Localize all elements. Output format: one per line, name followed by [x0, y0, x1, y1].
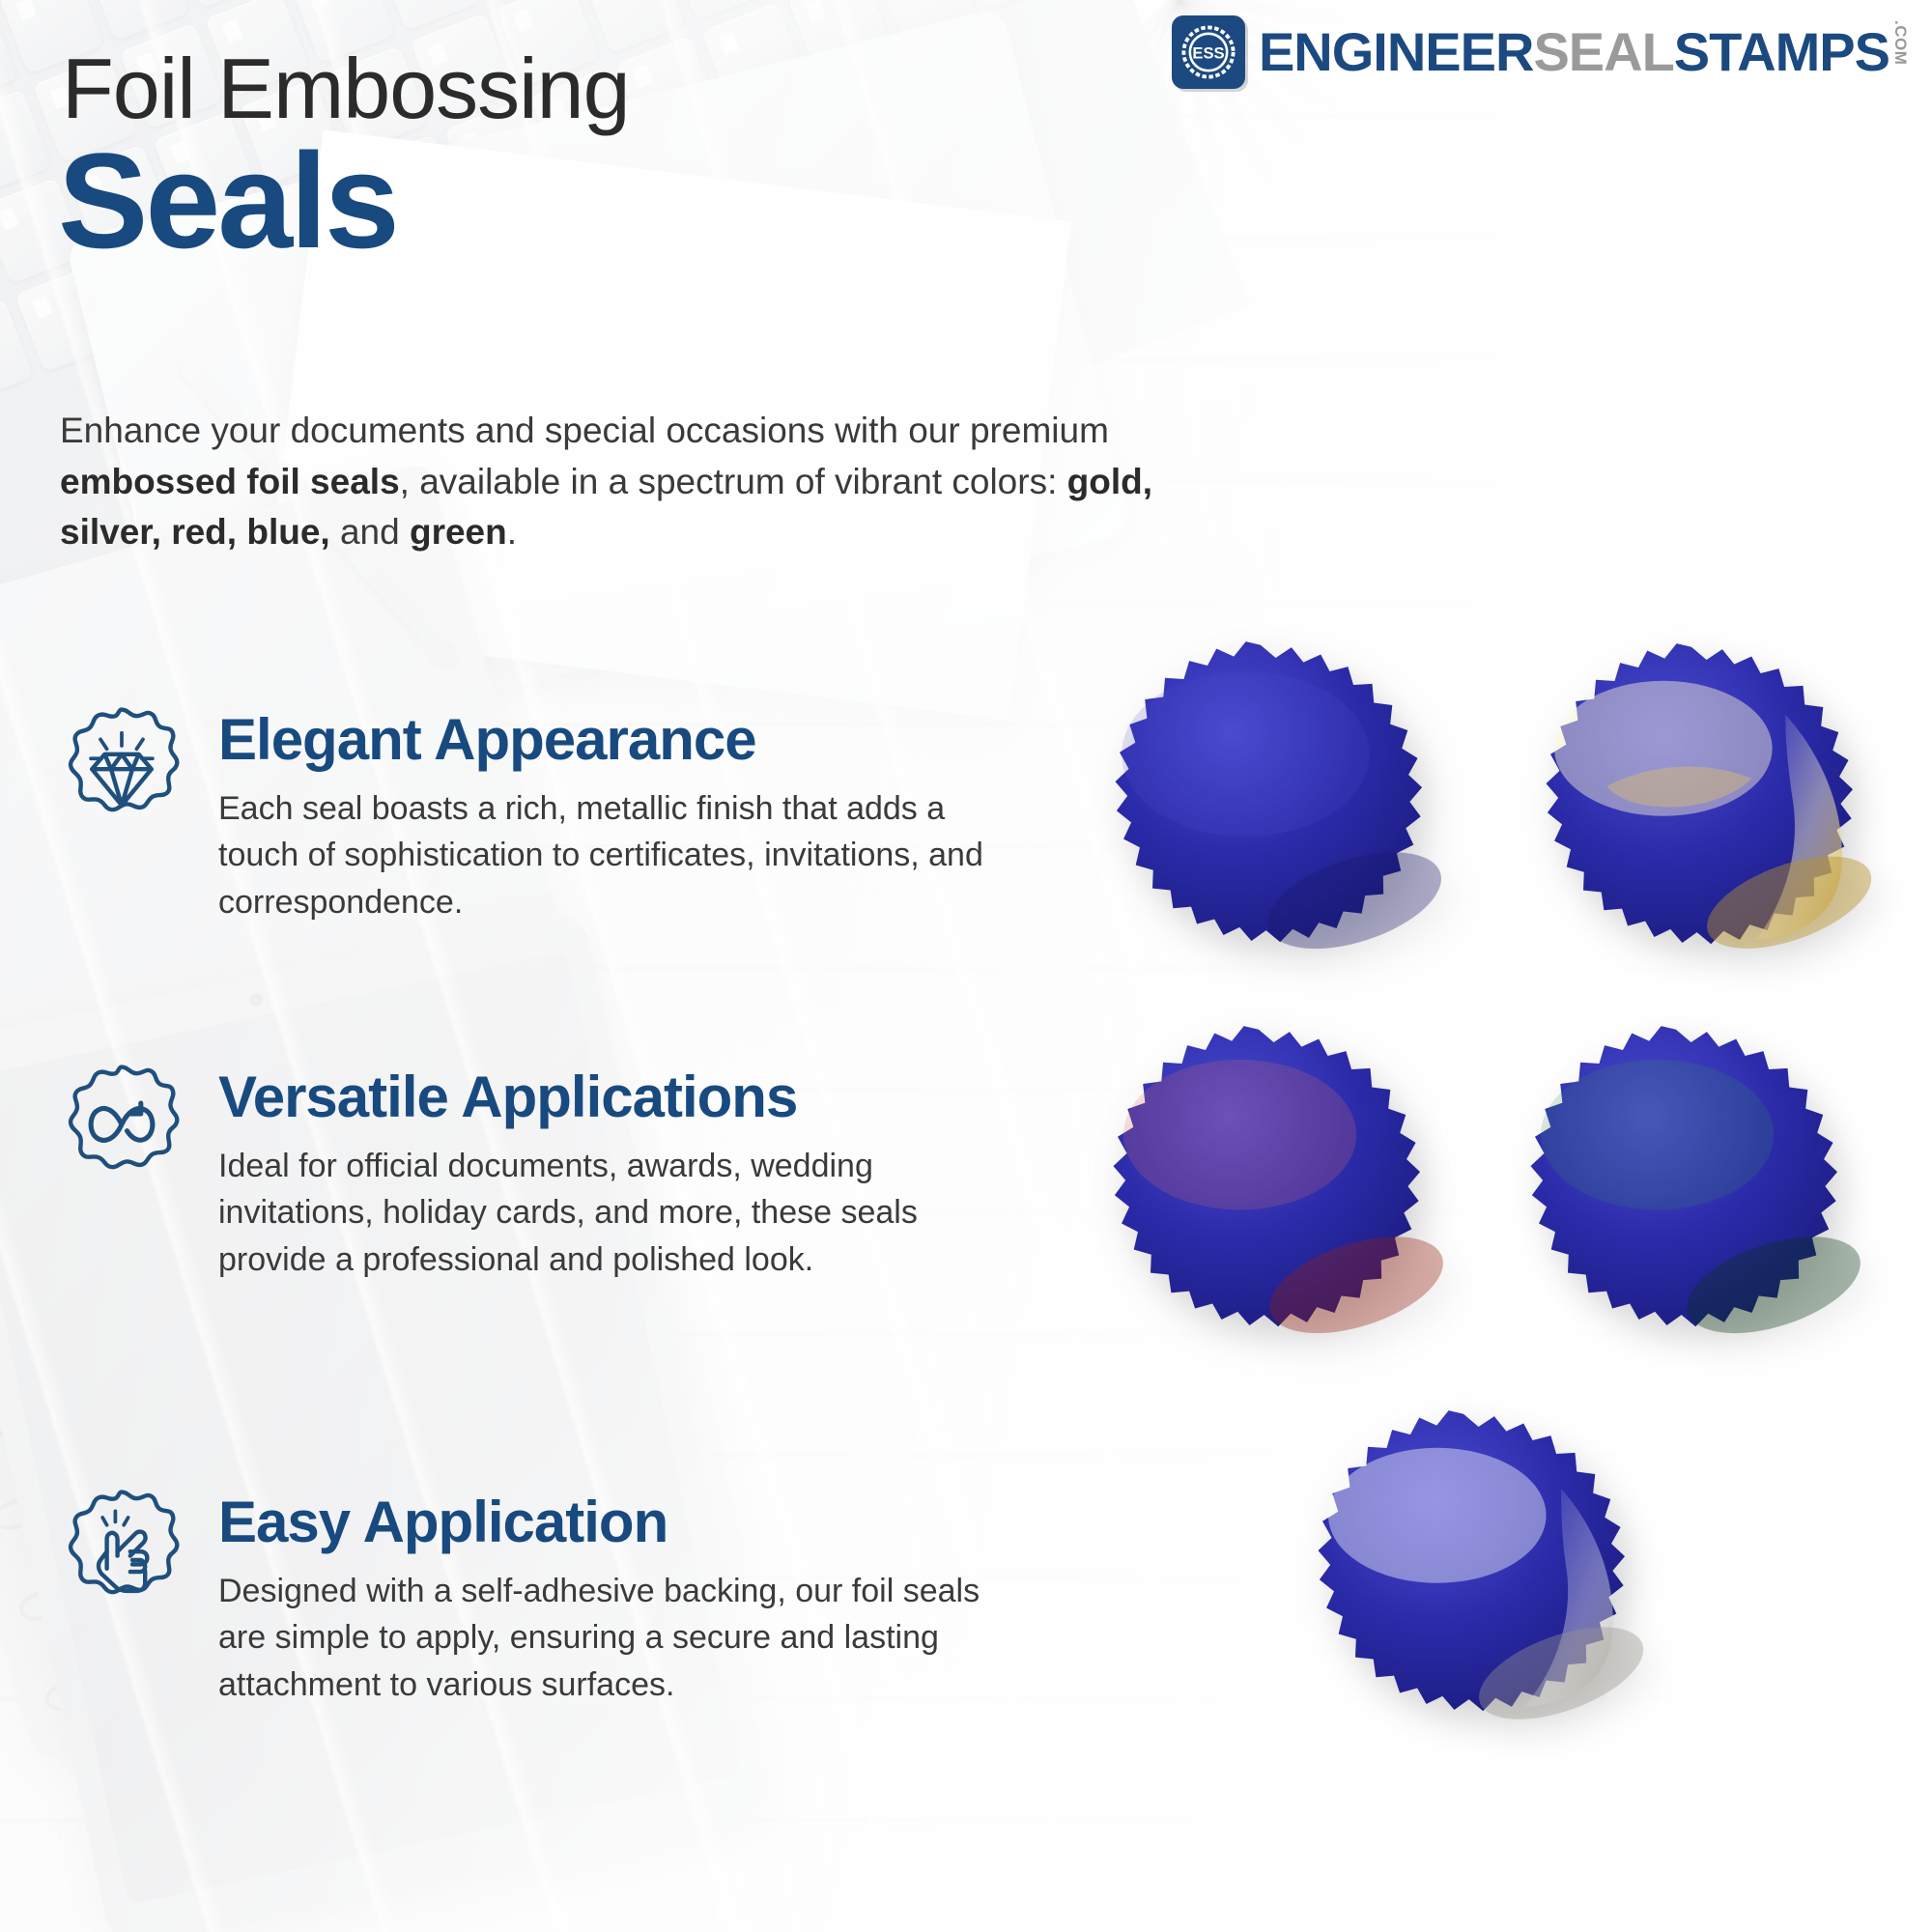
feature-description: Each seal boasts a rich, metallic finish… [218, 785, 1024, 925]
logo-word-engineer: ENGINEER [1259, 25, 1534, 79]
intro-paragraph: Enhance your documents and special occas… [60, 406, 1200, 558]
brand-logo[interactable]: ESS ENGINEER SEAL STAMPS .COM [1172, 15, 1909, 89]
feature-body: Versatile Applications Ideal for officia… [218, 1061, 1024, 1283]
tap-hand-badge-icon [58, 1486, 185, 1613]
feature-versatile-applications: Versatile Applications Ideal for officia… [58, 1061, 1024, 1283]
gold-foil-seal [1503, 639, 1880, 978]
ess-gear-icon: ESS [1172, 15, 1245, 89]
intro-bold-1: embossed foil seals [60, 462, 400, 501]
brand-wordmark: ENGINEER SEAL STAMPS .COM [1259, 25, 1909, 79]
infographic-page: ESS ENGINEER SEAL STAMPS .COM Foil Embos… [0, 0, 1932, 1932]
intro-text-1: Enhance your documents and special occas… [60, 411, 1109, 450]
feature-elegant-appearance: Elegant Appearance Each seal boasts a ri… [58, 703, 1024, 925]
logo-dotcom-suffix: .COM [1892, 20, 1909, 65]
content-layer: ESS ENGINEER SEAL STAMPS .COM Foil Embos… [0, 0, 1932, 1932]
intro-text-4: . [507, 512, 517, 552]
feature-description: Designed with a self-adhesive backing, o… [218, 1568, 1024, 1708]
feature-heading: Versatile Applications [218, 1066, 1024, 1127]
svg-text:ESS: ESS [1192, 43, 1224, 62]
feature-description: Ideal for official documents, awards, we… [218, 1143, 1024, 1283]
infinity-badge-icon [58, 1061, 185, 1188]
intro-text-3: and [330, 512, 410, 552]
diamond-badge-icon [58, 703, 185, 831]
feature-heading: Elegant Appearance [218, 709, 1024, 770]
blue-foil-seal [1072, 638, 1449, 976]
green-foil-seal [1488, 1022, 1864, 1360]
logo-word-seal: SEAL [1533, 25, 1673, 79]
silver-foil-seal [1275, 1406, 1652, 1745]
feature-body: Elegant Appearance Each seal boasts a ri… [218, 703, 1024, 925]
red-foil-seal [1070, 1022, 1447, 1360]
intro-bold-3: green [410, 512, 507, 552]
feature-body: Easy Application Designed with a self-ad… [218, 1486, 1024, 1708]
page-title-line2: Seals [58, 133, 397, 269]
feature-heading: Easy Application [218, 1492, 1024, 1552]
intro-text-2: , available in a spectrum of vibrant col… [400, 462, 1067, 501]
feature-easy-application: Easy Application Designed with a self-ad… [58, 1486, 1024, 1708]
logo-word-stamps: STAMPS [1674, 25, 1889, 79]
page-title-line1: Foil Embossing [62, 46, 630, 131]
